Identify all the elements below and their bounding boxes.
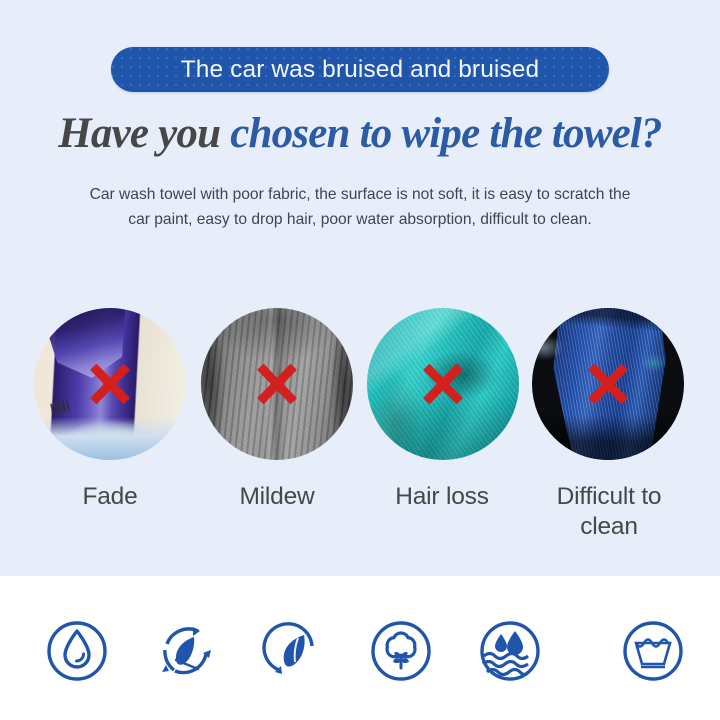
- red-x-mark: [584, 360, 632, 408]
- photo-label-tag: [50, 400, 70, 415]
- banner-pill: The car was bruised and bruised: [111, 47, 609, 92]
- page-title-part-dark: Have you: [58, 110, 230, 157]
- problem-label-difficult-to-clean: Difficult to clean: [527, 482, 691, 542]
- problem-image-fade: [34, 308, 186, 460]
- red-x-mark: [253, 360, 301, 408]
- red-x-mark: [419, 360, 467, 408]
- problem-images-row: [0, 308, 720, 460]
- description-paragraph: Car wash towel with poor fabric, the sur…: [78, 183, 642, 232]
- problem-image-difficult-to-clean: [532, 308, 684, 460]
- water-absorption-icon: [477, 618, 543, 684]
- red-x-mark: [86, 360, 134, 408]
- water-drop-icon: [44, 618, 110, 684]
- washable-tub-icon: [620, 618, 686, 684]
- page-title: Have you chosen to wipe the towel?: [0, 108, 720, 160]
- feather-rotate-icon: [260, 618, 326, 684]
- problem-image-hair-loss: [367, 308, 519, 460]
- feature-icons-strip: [0, 576, 720, 720]
- problem-label-hair-loss: Hair loss: [360, 482, 524, 512]
- cotton-flower-icon: [368, 618, 434, 684]
- problem-labels-row: Fade Mildew Hair loss Difficult to clean: [0, 482, 720, 552]
- page-title-part-blue: chosen to wipe the towel?: [230, 110, 662, 157]
- banner-text: The car was bruised and bruised: [181, 56, 540, 84]
- feature-icons-row: [0, 576, 720, 720]
- feather-recycle-icon: [152, 618, 218, 684]
- problem-label-mildew: Mildew: [195, 482, 359, 512]
- problem-image-mildew: [201, 308, 353, 460]
- problem-label-fade: Fade: [28, 482, 192, 512]
